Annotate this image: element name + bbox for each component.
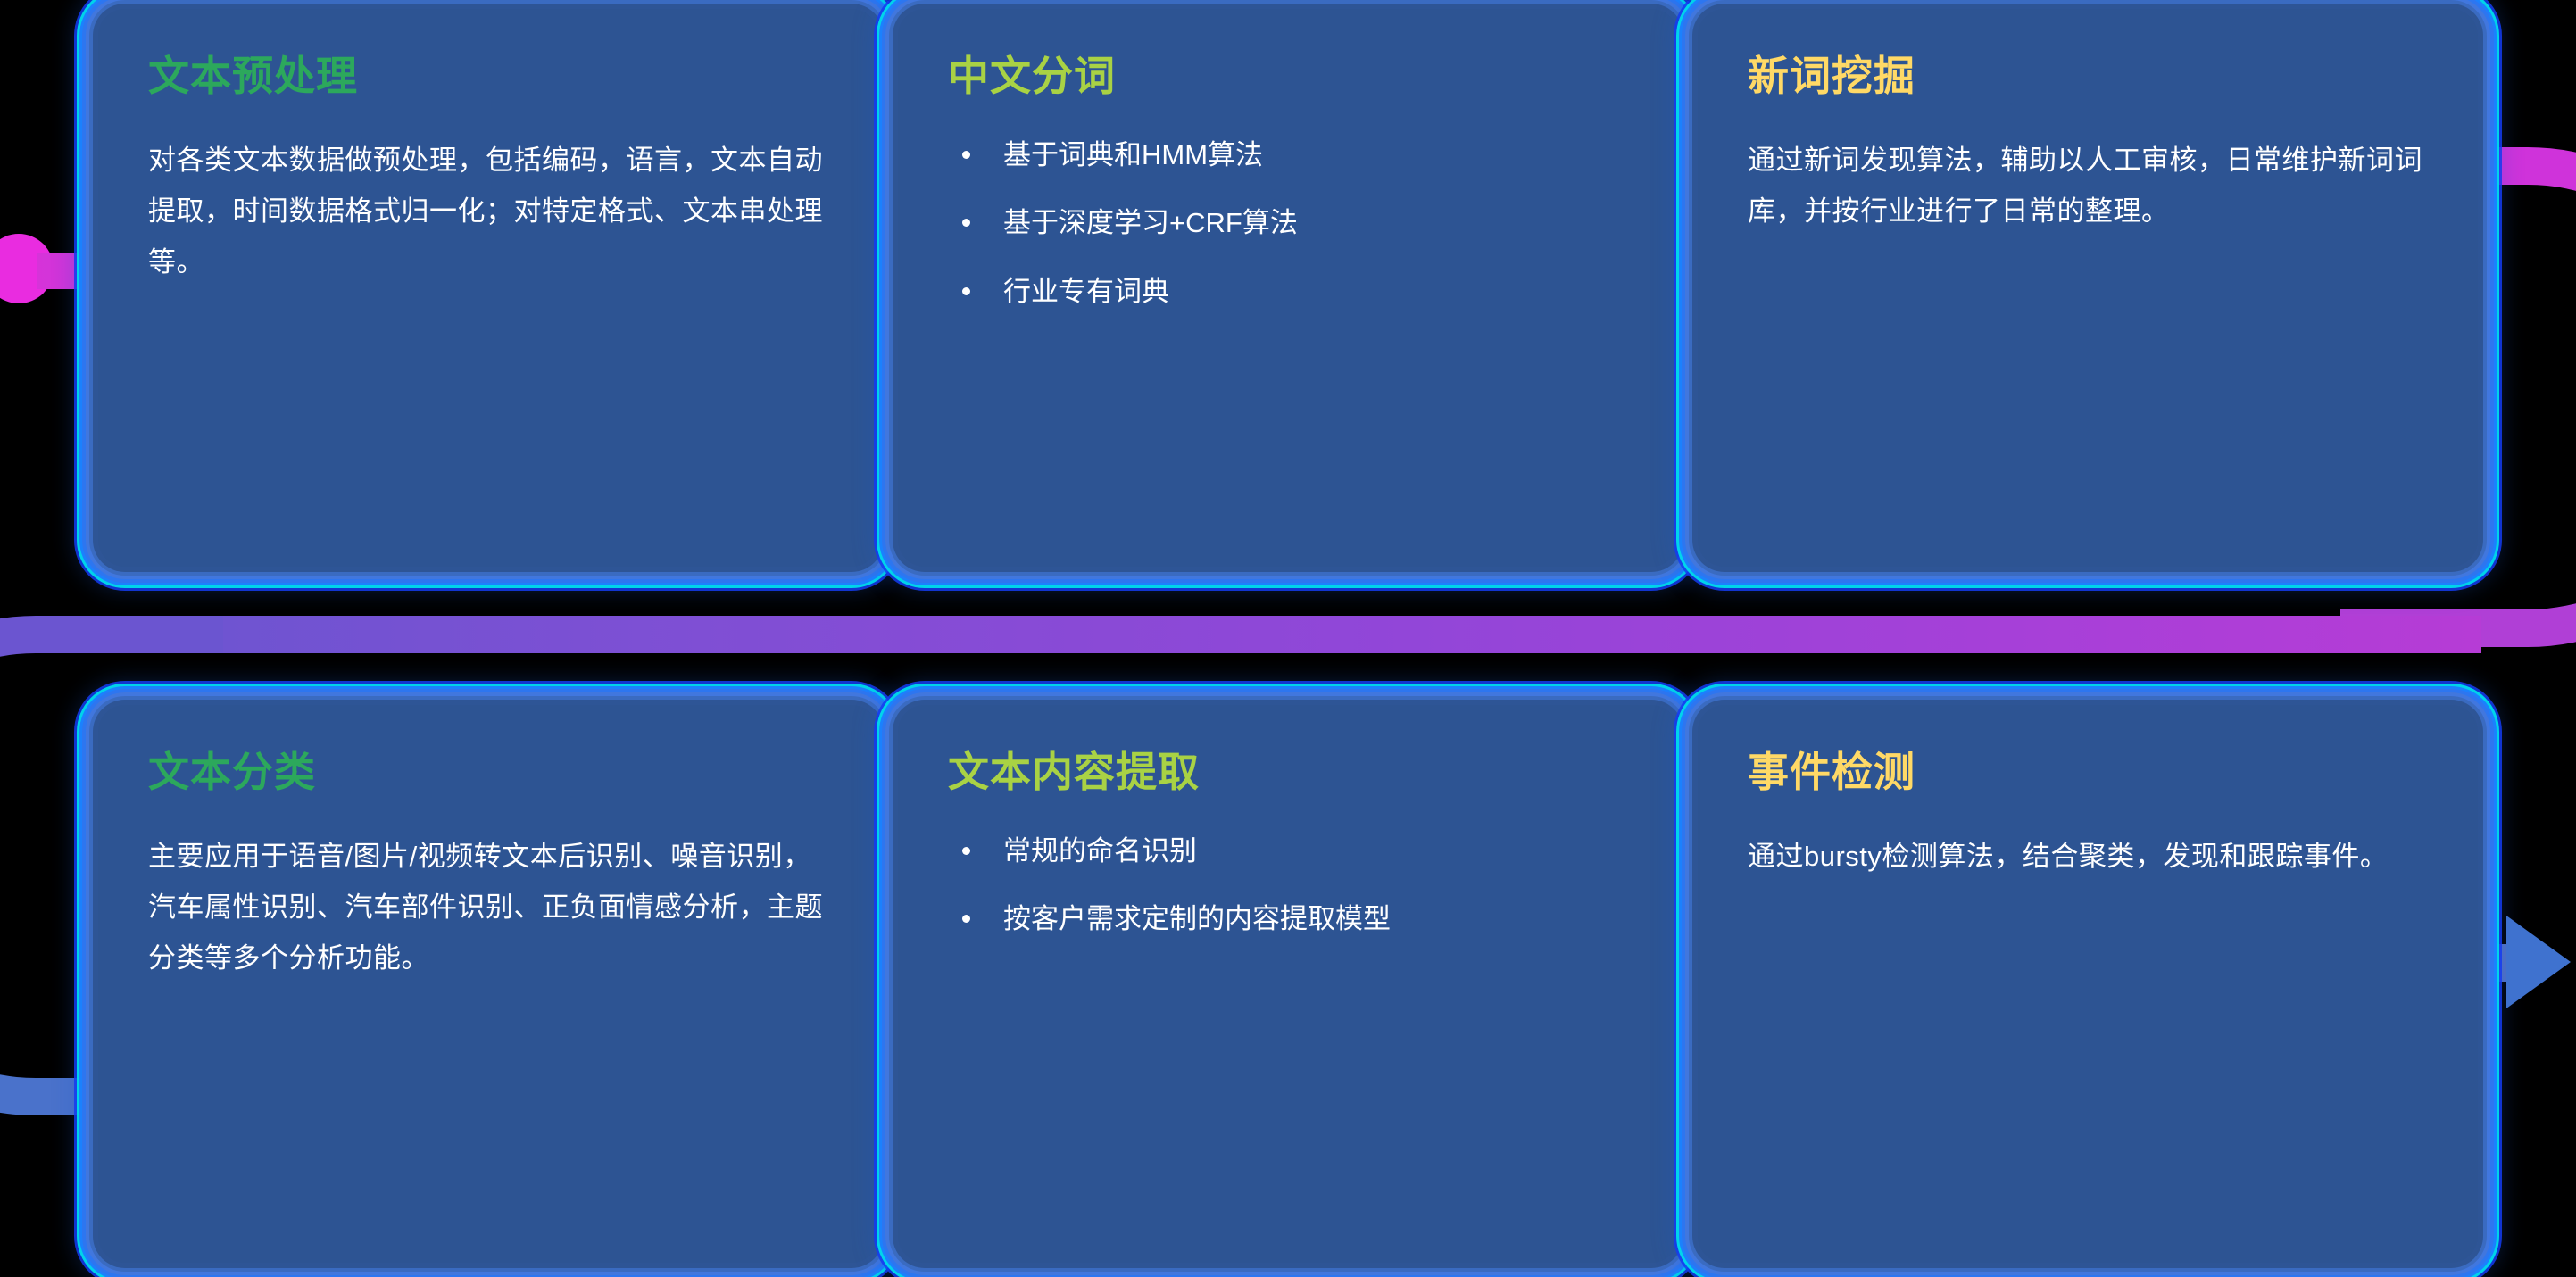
card-text-preprocessing[interactable]: 文本预处理 对各类文本数据做预处理，包括编码，语言，文本自动提取，时间数据格式归… xyxy=(98,9,878,567)
card-content-extraction[interactable]: 文本内容提取 常规的命名识别 按客户需求定制的内容提取模型 xyxy=(898,705,1678,1263)
card-paragraph: 主要应用于语音/图片/视频转文本后识别、噪音识别，汽车属性识别、汽车部件识别、正… xyxy=(148,831,828,984)
card-chinese-segmentation[interactable]: 中文分词 基于词典和HMM算法 基于深度学习+CRF算法 行业专有词典 xyxy=(898,9,1678,567)
card-text-classification[interactable]: 文本分类 主要应用于语音/图片/视频转文本后识别、噪音识别，汽车属性识别、汽车部… xyxy=(98,705,878,1263)
card-paragraph: 通过bursty检测算法，结合聚类，发现和跟踪事件。 xyxy=(1748,831,2428,882)
list-item: 基于深度学习+CRF算法 xyxy=(948,203,1628,245)
connector-middle-band xyxy=(107,616,2481,653)
card-bullet-list: 基于词典和HMM算法 基于深度学习+CRF算法 行业专有词典 xyxy=(948,135,1628,313)
card-body: 通过新词发现算法，辅助以人工审核，日常维护新词词库，并按行业进行了日常的整理。 xyxy=(1748,135,2428,237)
card-paragraph: 通过新词发现算法，辅助以人工审核，日常维护新词词库，并按行业进行了日常的整理。 xyxy=(1748,135,2428,237)
list-item: 常规的命名识别 xyxy=(948,831,1628,873)
card-row-top: 文本预处理 对各类文本数据做预处理，包括编码，语言，文本自动提取，时间数据格式归… xyxy=(0,9,2576,567)
card-title: 文本分类 xyxy=(148,750,828,795)
card-title: 文本预处理 xyxy=(148,54,828,99)
card-bullet-list: 常规的命名识别 按客户需求定制的内容提取模型 xyxy=(948,831,1628,941)
card-title: 文本内容提取 xyxy=(948,750,1628,795)
list-item: 基于词典和HMM算法 xyxy=(948,135,1628,177)
card-body: 通过bursty检测算法，结合聚类，发现和跟踪事件。 xyxy=(1748,831,2428,882)
card-new-word-mining[interactable]: 新词挖掘 通过新词发现算法，辅助以人工审核，日常维护新词词库，并按行业进行了日常… xyxy=(1698,9,2478,567)
list-item: 按客户需求定制的内容提取模型 xyxy=(948,899,1628,941)
infographic-canvas: 文本预处理 对各类文本数据做预处理，包括编码，语言，文本自动提取，时间数据格式归… xyxy=(0,0,2576,1277)
card-title: 新词挖掘 xyxy=(1748,54,2428,99)
card-body: 主要应用于语音/图片/视频转文本后识别、噪音识别，汽车属性识别、汽车部件识别、正… xyxy=(148,831,828,984)
card-title: 中文分词 xyxy=(948,54,1628,99)
card-paragraph: 对各类文本数据做预处理，包括编码，语言，文本自动提取，时间数据格式归一化；对特定… xyxy=(148,135,828,288)
card-title: 事件检测 xyxy=(1748,750,2428,795)
list-item: 行业专有词典 xyxy=(948,271,1628,313)
card-event-detection[interactable]: 事件检测 通过bursty检测算法，结合聚类，发现和跟踪事件。 xyxy=(1698,705,2478,1263)
card-body: 对各类文本数据做预处理，包括编码，语言，文本自动提取，时间数据格式归一化；对特定… xyxy=(148,135,828,288)
card-row-bottom: 文本分类 主要应用于语音/图片/视频转文本后识别、噪音识别，汽车属性识别、汽车部… xyxy=(0,705,2576,1263)
